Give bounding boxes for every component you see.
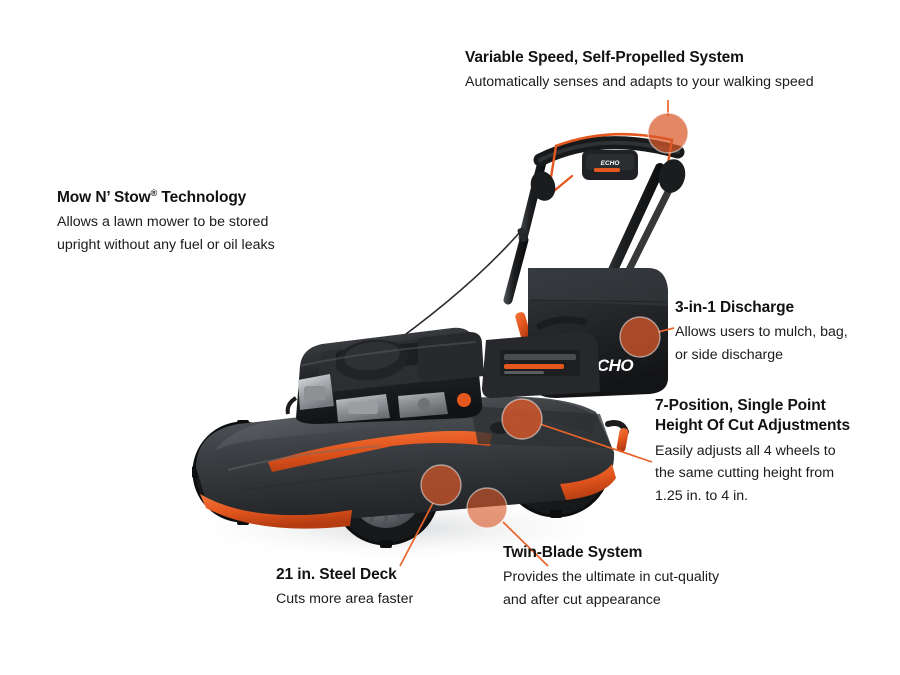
callout-dot-discharge[interactable] [620,317,660,357]
callout-dot-twin-blade[interactable] [467,488,507,528]
infographic-canvas: ECHO ECHO [0,0,900,675]
callout-discharge-line-2: or side discharge [675,344,848,366]
callout-height-of-cut-line-3: 1.25 in. to 4 in. [655,485,890,507]
callout-dot-height-of-cut[interactable] [502,399,542,439]
engine-assembly [288,328,484,424]
callout-mow-n-stow-title: Mow N’ Stow® Technology [57,188,275,208]
callout-height-of-cut-line-1: Easily adjusts all 4 wheels to [655,440,890,462]
callout-twin-blade-line-1: Provides the ultimate in cut-quality [503,566,719,588]
callout-variable-speed-line-1: Automatically senses and adapts to your … [465,71,814,93]
callout-discharge-line-1: Allows users to mulch, bag, [675,321,848,343]
callout-height-of-cut-title: 7-Position, Single Point Height Of Cut A… [655,396,890,437]
callout-variable-speed-title: Variable Speed, Self-Propelled System [465,48,814,68]
callout-mow-n-stow-body: Allows a lawn mower to be stored upright… [57,211,275,256]
callout-discharge-body: Allows users to mulch, bag, or side disc… [675,321,848,366]
callout-mow-n-stow-title-prefix: Mow N’ Stow [57,189,151,206]
callout-steel-deck-body: Cuts more area faster [276,588,413,610]
callout-height-of-cut-title-line-2: Height Of Cut Adjustments [655,416,890,436]
callout-dot-steel-deck[interactable] [421,465,461,505]
callout-mow-n-stow-line-2: upright without any fuel or oil leaks [57,234,275,256]
callout-twin-blade: Twin-Blade System Provides the ultimate … [503,543,719,611]
callout-discharge-title: 3-in-1 Discharge [675,298,848,318]
callout-variable-speed: Variable Speed, Self-Propelled System Au… [465,48,814,94]
callout-height-of-cut-line-2: the same cutting height from [655,462,890,484]
svg-text:ECHO: ECHO [601,160,620,167]
callout-height-of-cut: 7-Position, Single Point Height Of Cut A… [655,396,890,507]
callout-height-of-cut-body: Easily adjusts all 4 wheels to the same … [655,440,890,507]
callout-twin-blade-line-2: and after cut appearance [503,589,719,611]
callout-mow-n-stow: Mow N’ Stow® Technology Allows a lawn mo… [57,188,275,256]
callout-steel-deck-title: 21 in. Steel Deck [276,565,413,585]
callout-three-in-one-discharge: 3-in-1 Discharge Allows users to mulch, … [675,298,848,366]
callout-mow-n-stow-title-suffix: Technology [157,189,246,206]
callout-twin-blade-title: Twin-Blade System [503,543,719,563]
callout-steel-deck-line-1: Cuts more area faster [276,588,413,610]
callout-variable-speed-body: Automatically senses and adapts to your … [465,71,814,93]
callout-steel-deck: 21 in. Steel Deck Cuts more area faster [276,565,413,611]
callout-dot-variable-speed[interactable] [648,113,688,153]
callout-height-of-cut-title-line-1: 7-Position, Single Point [655,396,890,416]
callout-twin-blade-body: Provides the ultimate in cut-quality and… [503,566,719,611]
callout-mow-n-stow-line-1: Allows a lawn mower to be stored [57,211,275,233]
